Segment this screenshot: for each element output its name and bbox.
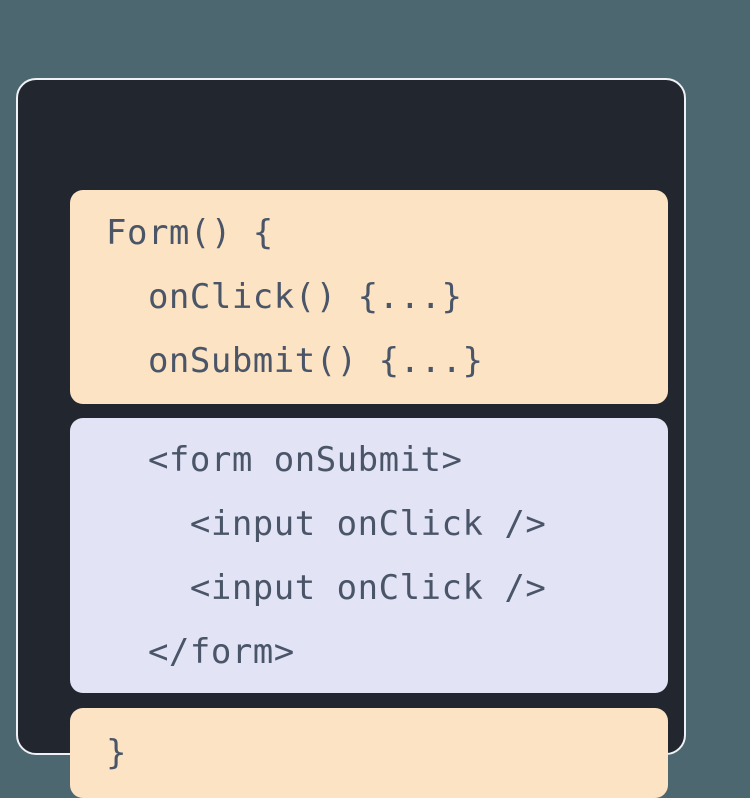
code-line-list: Form() { onClick() {...} onSubmit() {...… (70, 190, 668, 404)
code-line: <input onClick /> (70, 492, 668, 556)
code-line: onClick() {...} (70, 265, 668, 329)
code-block-closing[interactable]: } (70, 708, 668, 798)
code-line: } (70, 729, 668, 777)
code-block-logic[interactable]: Form() { onClick() {...} onSubmit() {...… (70, 190, 668, 404)
code-block-markup[interactable]: <form onSubmit> <input onClick /> <input… (70, 418, 668, 693)
code-line-list: <form onSubmit> <input onClick /> <input… (70, 418, 668, 693)
code-component-card: Form() { onClick() {...} onSubmit() {...… (16, 78, 686, 755)
code-line: Form() { (70, 201, 668, 265)
screenshot-canvas: Form() { onClick() {...} onSubmit() {...… (0, 0, 750, 762)
code-line: </form> (70, 620, 668, 684)
code-line: onSubmit() {...} (70, 329, 668, 393)
code-line-list: } (70, 708, 668, 798)
code-line: <input onClick /> (70, 556, 668, 620)
code-line: <form onSubmit> (70, 428, 668, 492)
